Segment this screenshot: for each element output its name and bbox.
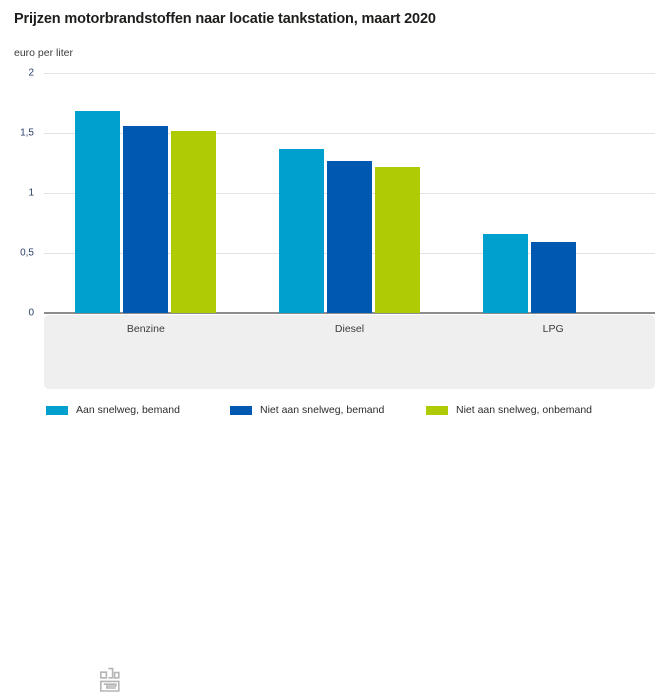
y-axis: 00,511,52 bbox=[0, 73, 44, 313]
legend-label: Niet aan snelweg, onbemand bbox=[456, 403, 592, 417]
gridline bbox=[44, 73, 655, 74]
y-axis-tick-label: 1 bbox=[28, 188, 34, 199]
category-axis-band: BenzineDieselLPG bbox=[44, 315, 655, 389]
legend-swatch-icon bbox=[230, 406, 252, 415]
bar bbox=[75, 111, 120, 313]
bar-chart: Prijzen motorbrandstoffen naar locatie t… bbox=[0, 0, 669, 450]
category-axis-label: LPG bbox=[543, 323, 564, 335]
bar bbox=[375, 167, 420, 313]
bar bbox=[483, 234, 528, 313]
y-axis-tick-label: 2 bbox=[28, 68, 34, 79]
y-axis-tick-label: 0 bbox=[28, 308, 34, 319]
y-axis-tick-label: 1,5 bbox=[20, 128, 34, 139]
category-axis-label: Benzine bbox=[127, 323, 165, 335]
chart-subtitle: euro per liter bbox=[14, 47, 73, 59]
cbs-logo-icon bbox=[98, 667, 122, 693]
bar bbox=[123, 126, 168, 313]
chart-legend: Aan snelweg, bemandNiet aan snelweg, bem… bbox=[44, 403, 655, 423]
bar bbox=[279, 149, 324, 313]
legend-label: Aan snelweg, bemand bbox=[76, 403, 180, 417]
legend-swatch-icon bbox=[426, 406, 448, 415]
chart-title: Prijzen motorbrandstoffen naar locatie t… bbox=[14, 11, 436, 27]
y-axis-tick-label: 0,5 bbox=[20, 248, 34, 259]
category-axis-label: Diesel bbox=[335, 323, 364, 335]
legend-swatch-icon bbox=[46, 406, 68, 415]
bar bbox=[171, 131, 216, 313]
bar bbox=[327, 161, 372, 313]
plot-area bbox=[44, 73, 655, 313]
bar bbox=[531, 242, 576, 313]
legend-label: Niet aan snelweg, bemand bbox=[260, 403, 384, 417]
